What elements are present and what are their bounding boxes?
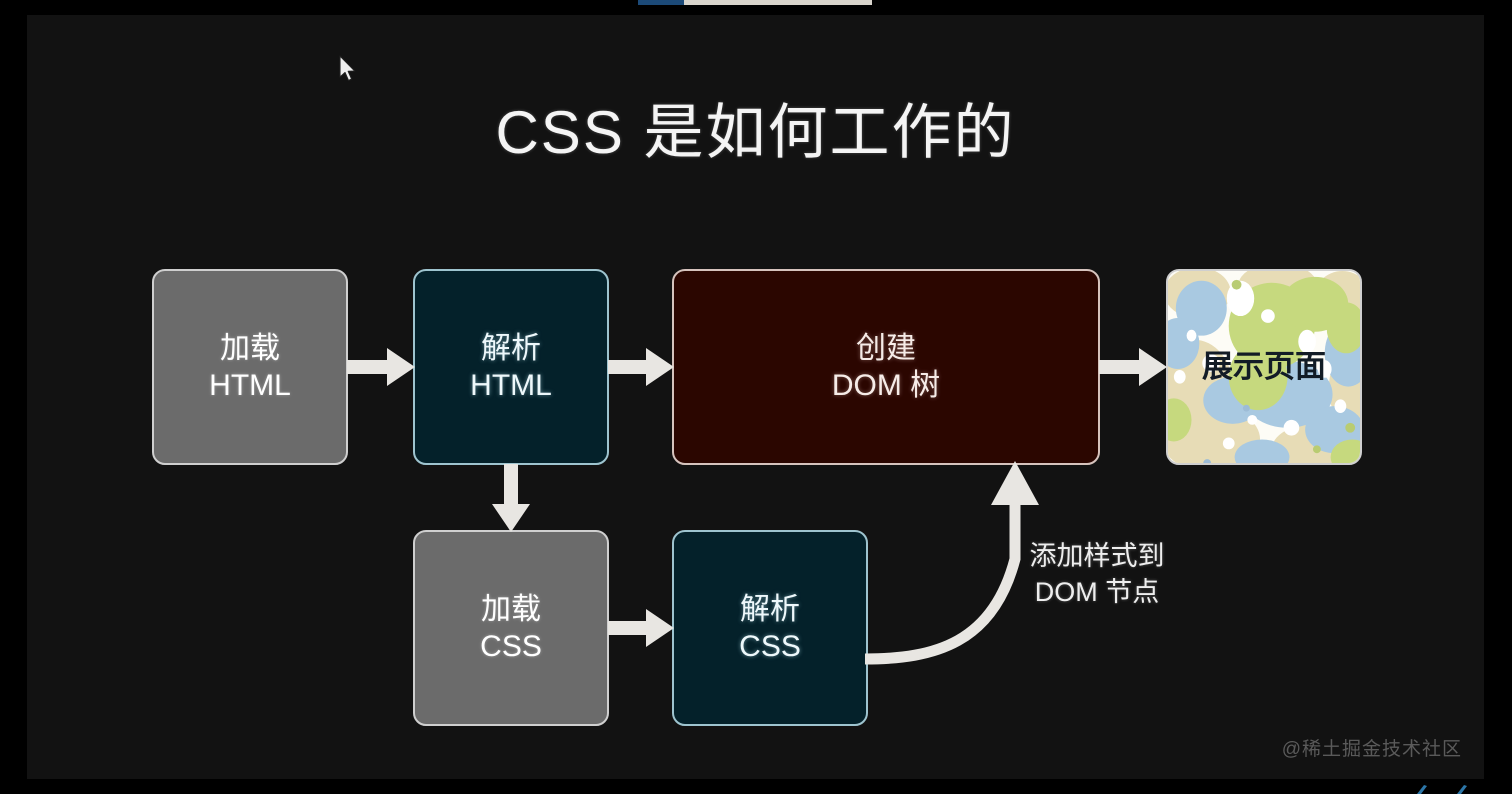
- page-title: CSS 是如何工作的: [27, 103, 1484, 163]
- slide-canvas: CSS 是如何工作的 加载 HTML 解析 HTML 创建 DOM 树: [27, 15, 1484, 779]
- flow-node-parse-html-line1: 解析: [481, 330, 541, 368]
- arrow-load-css-to-parse-css: [608, 605, 676, 651]
- screen: CSS 是如何工作的 加载 HTML 解析 HTML 创建 DOM 树: [0, 0, 1512, 794]
- flow-node-create-dom-tree-line2: DOM 树: [832, 367, 940, 405]
- flow-node-parse-css[interactable]: 解析 CSS: [672, 530, 868, 726]
- arrow-load-html-to-parse-html: [347, 344, 417, 390]
- video-progress-filled: [638, 0, 684, 5]
- flow-node-parse-html-line2: HTML: [470, 367, 552, 405]
- flow-node-show-page-label: 展示页面: [1202, 348, 1326, 387]
- arrow-parse-html-to-load-css: [488, 464, 534, 534]
- edge-label-add-styles-to-dom: 添加样式到 DOM 节点: [977, 538, 1217, 611]
- player-chevron-right-icon[interactable]: [1455, 784, 1473, 794]
- flow-node-show-page[interactable]: 展示页面: [1166, 269, 1362, 465]
- flow-node-load-css-line2: CSS: [480, 628, 542, 666]
- flow-node-parse-css-line1: 解析: [740, 591, 800, 629]
- edge-label-line2: DOM 节点: [977, 574, 1217, 610]
- flow-node-create-dom-tree-line1: 创建: [856, 330, 916, 368]
- flow-node-create-dom-tree[interactable]: 创建 DOM 树: [672, 269, 1100, 465]
- video-progress-bar[interactable]: [638, 0, 872, 5]
- arrow-parse-html-to-dom-tree: [608, 344, 676, 390]
- flow-node-load-html-line1: 加载: [220, 330, 280, 368]
- flow-node-load-html-line2: HTML: [209, 367, 291, 405]
- flow-node-parse-html[interactable]: 解析 HTML: [413, 269, 609, 465]
- player-chevron-left-icon[interactable]: [1415, 784, 1433, 794]
- flow-node-parse-css-line2: CSS: [739, 628, 801, 666]
- arrow-dom-tree-to-show-page: [1099, 344, 1169, 390]
- watermark: @稀土掘金技术社区: [1282, 734, 1462, 761]
- flow-node-load-css[interactable]: 加载 CSS: [413, 530, 609, 726]
- flow-node-load-html[interactable]: 加载 HTML: [152, 269, 348, 465]
- edge-label-line1: 添加样式到: [977, 538, 1217, 574]
- flow-node-load-css-line1: 加载: [481, 591, 541, 629]
